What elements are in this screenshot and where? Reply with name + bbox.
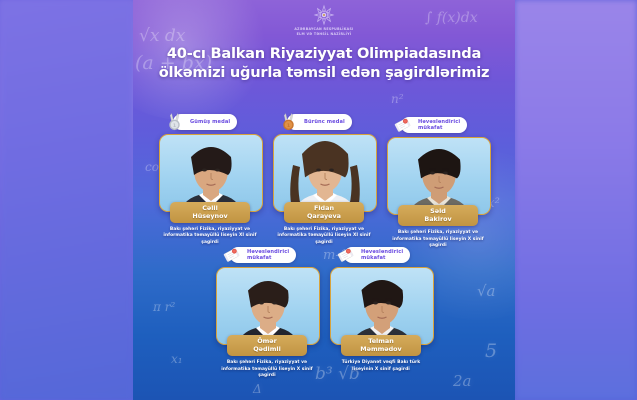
award-badge-label: Həvəsləndirici mükafat bbox=[247, 249, 289, 261]
headline-line-2: ölkəmizi uğurla təmsil edən şagirdlərimi… bbox=[149, 63, 499, 82]
headline-line-1: 40-cı Balkan Riyaziyyat Olimpiadasında bbox=[149, 44, 499, 63]
diploma-scroll-icon bbox=[222, 246, 241, 265]
award-badge: Həvəsləndirici mükafat bbox=[344, 247, 410, 263]
page-title: 40-cı Balkan Riyaziyyat Olimpiadasında ö… bbox=[149, 44, 499, 82]
portrait-omer-qedimli bbox=[217, 268, 319, 344]
diploma-scroll-icon bbox=[336, 246, 355, 265]
award-badge: Həvəsləndirici mükafat bbox=[401, 117, 467, 133]
svg-text:1: 1 bbox=[173, 123, 176, 129]
student-description: Türkiyə Diyanət vəqfi Bakı türk liseyini… bbox=[330, 360, 432, 372]
photo-container: Cəlil Hüseynov bbox=[159, 134, 261, 212]
award-badge: Həvəsləndirici mükafat bbox=[230, 247, 296, 263]
ministry-branding: AZƏRBAYCAN RESPUBLİKASI ELM VƏ TƏHSİL NA… bbox=[133, 4, 515, 36]
student-last-name: Qədimli bbox=[229, 346, 305, 354]
svg-text:1: 1 bbox=[287, 123, 290, 129]
diploma-scroll-icon bbox=[336, 246, 355, 265]
photo-container: Ömər Qədimli bbox=[216, 267, 318, 345]
portrait-celil-huseynov bbox=[160, 135, 262, 211]
student-last-name: Qarayeva bbox=[286, 213, 362, 221]
photo-container: Fidan Qarayeva bbox=[273, 134, 375, 212]
bronze-medal-icon: 1 bbox=[279, 113, 298, 132]
screenshot-stage: √x dx (a + bx) ∫ f(x)dx n² m-1 b³ √b 2a … bbox=[0, 0, 637, 400]
formula-glyph: n² bbox=[391, 92, 404, 106]
student-nameplate: Səid Bakirov bbox=[398, 205, 478, 226]
backdrop-right-band bbox=[515, 0, 637, 400]
award-badge-label: Gümüş medal bbox=[190, 119, 230, 125]
diploma-scroll-icon bbox=[393, 116, 412, 135]
student-photo bbox=[387, 137, 491, 215]
silver-medal-icon: 1 bbox=[165, 113, 184, 132]
photo-container: Telman Məmmədov bbox=[330, 267, 432, 345]
award-badge: 1 Bürünc medal bbox=[287, 114, 352, 130]
diploma-scroll-icon bbox=[222, 246, 241, 265]
student-nameplate: Cəlil Hüseynov bbox=[170, 202, 250, 223]
azerbaijan-ministry-emblem-icon bbox=[313, 4, 335, 26]
student-photo bbox=[330, 267, 434, 345]
award-row-2: Həvəsləndirici mükafat Ömər bbox=[133, 238, 515, 379]
formula-glyph: Δ bbox=[253, 382, 262, 396]
award-row-1: 1 Gümüş medal Cəlil bbox=[133, 108, 515, 249]
bronze-medal-icon: 1 bbox=[279, 113, 298, 132]
award-card[interactable]: 1 Gümüş medal Cəlil bbox=[159, 108, 261, 249]
student-photo bbox=[273, 134, 377, 212]
award-card[interactable]: Həvəsləndirici mükafat Səid bbox=[387, 108, 489, 249]
portrait-fidan-qarayeva bbox=[274, 135, 376, 211]
student-nameplate: Telman Məmmədov bbox=[341, 335, 421, 356]
student-photo bbox=[159, 134, 263, 212]
award-badge-label: Bürünc medal bbox=[304, 119, 345, 125]
award-card[interactable]: 1 Bürünc medal Fi bbox=[273, 108, 375, 249]
student-last-name: Hüseynov bbox=[172, 213, 248, 221]
award-badge: 1 Gümüş medal bbox=[173, 114, 237, 130]
backdrop-left-band bbox=[0, 0, 133, 400]
student-photo bbox=[216, 267, 320, 345]
photo-container: Səid Bakirov bbox=[387, 137, 489, 215]
silver-medal-icon: 1 bbox=[165, 113, 184, 132]
student-last-name: Məmmədov bbox=[343, 346, 419, 354]
student-nameplate: Ömər Qədimli bbox=[227, 335, 307, 356]
award-badge-label: Həvəsləndirici mükafat bbox=[361, 249, 403, 261]
award-card[interactable]: Həvəsləndirici mükafat Telman bbox=[330, 238, 432, 379]
portrait-seid-bakirov bbox=[388, 138, 490, 214]
portrait-telman-memmedov bbox=[331, 268, 433, 344]
student-last-name: Bakirov bbox=[400, 216, 476, 224]
ministry-line-2: ELM VƏ TƏHSİL NAZİRLİYİ bbox=[133, 32, 515, 37]
award-card[interactable]: Həvəsləndirici mükafat Ömər bbox=[216, 238, 318, 379]
diploma-scroll-icon bbox=[393, 116, 412, 135]
student-nameplate: Fidan Qarayeva bbox=[284, 202, 364, 223]
student-description: Bakı şəhəri Fizika, riyaziyyat və inform… bbox=[216, 360, 318, 379]
poster-image: √x dx (a + bx) ∫ f(x)dx n² m-1 b³ √b 2a … bbox=[133, 0, 515, 400]
award-badge-label: Həvəsləndirici mükafat bbox=[418, 119, 460, 131]
